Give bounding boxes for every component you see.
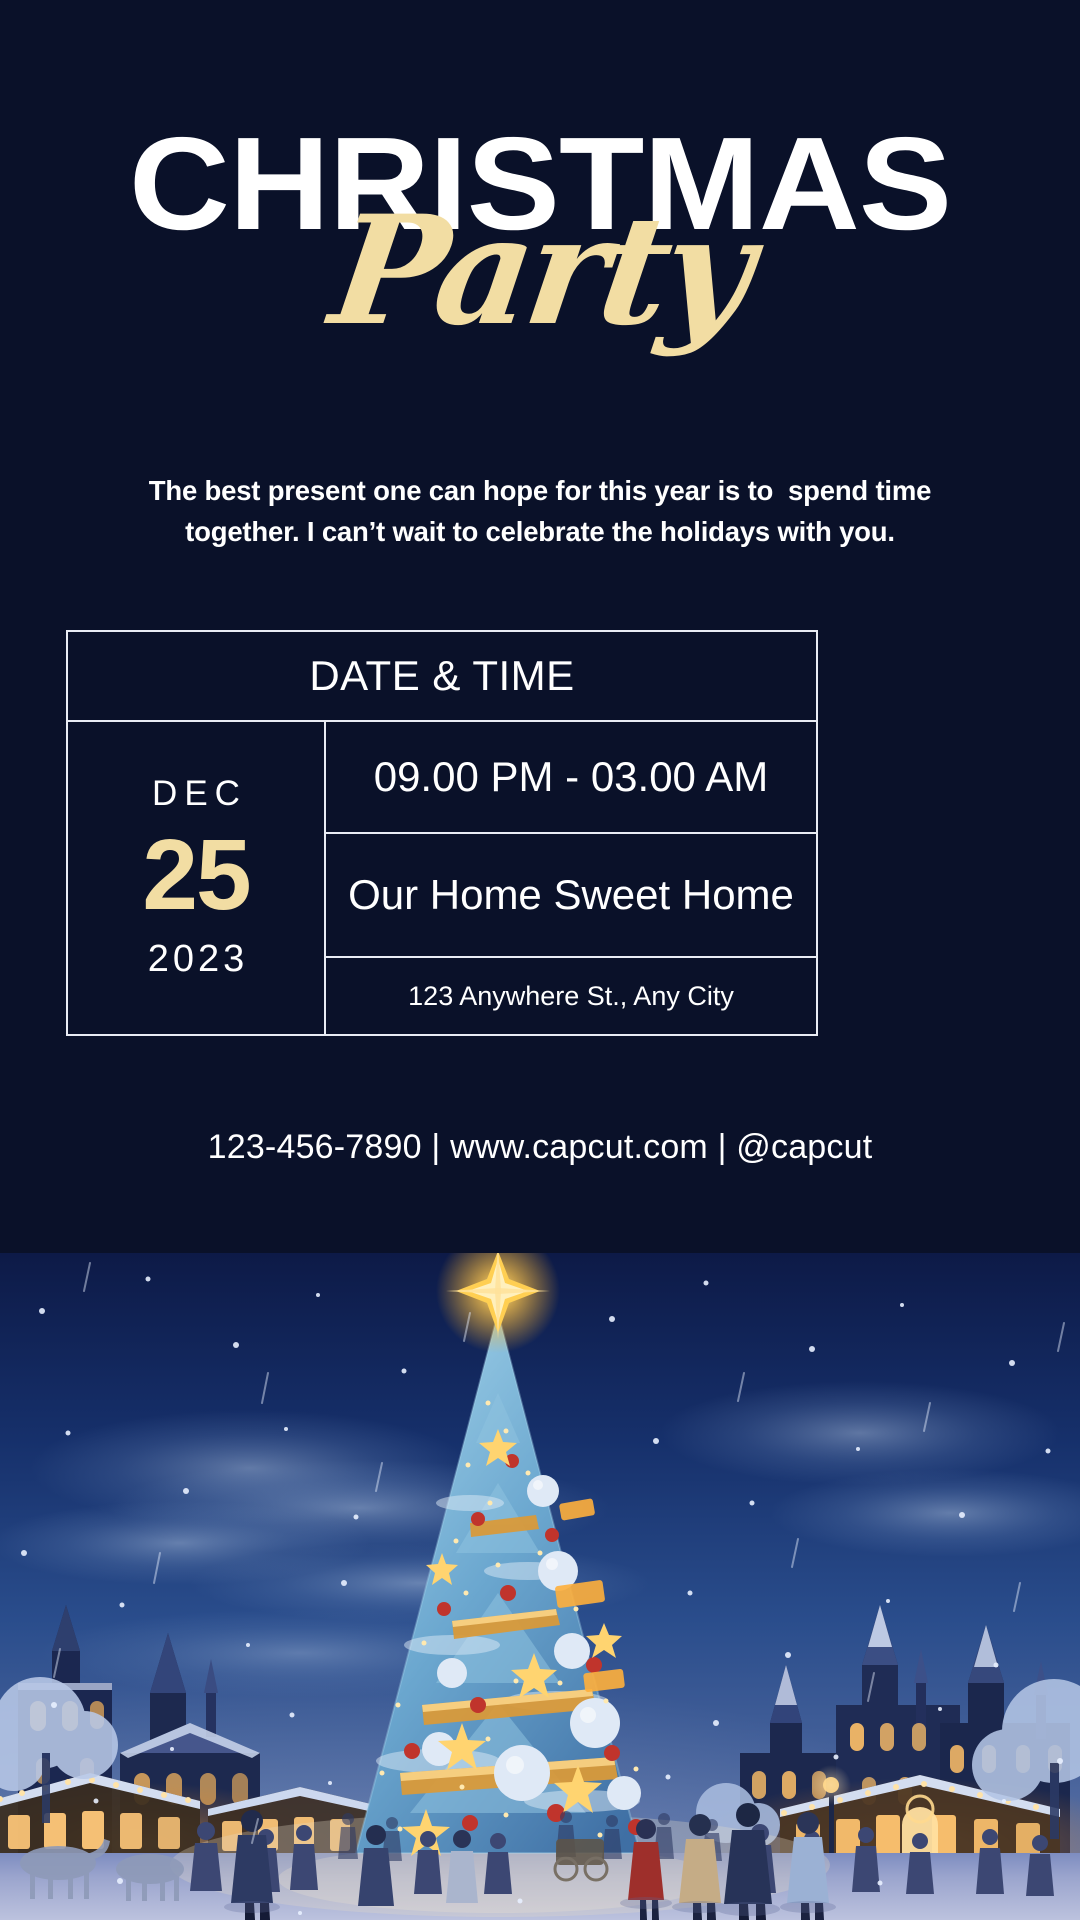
- event-details-table: DATE & TIME DEC 25 2023 09.00 PM - 03.00…: [66, 630, 818, 1036]
- date-year: 2023: [144, 938, 249, 980]
- intro-paragraph: The best present one can hope for this y…: [90, 470, 990, 552]
- date-month: DEC: [145, 772, 247, 816]
- poster-title-block: CHRISTMAS Party: [0, 118, 1080, 408]
- details-right-column: 09.00 PM - 03.00 AM Our Home Sweet Home …: [326, 722, 816, 1034]
- event-time: 09.00 PM - 03.00 AM: [326, 722, 816, 834]
- page-subtitle-script: Party: [0, 196, 1080, 346]
- date-day: 25: [142, 822, 249, 928]
- christmas-party-poster: CHRISTMAS Party The best present one can…: [0, 0, 1080, 1920]
- details-body: DEC 25 2023 09.00 PM - 03.00 AM Our Home…: [68, 722, 816, 1034]
- details-header: DATE & TIME: [68, 632, 816, 722]
- contact-line: 123-456-7890 | www.capcut.com | @capcut: [0, 1128, 1080, 1167]
- christmas-scene-photo: [0, 1253, 1080, 1920]
- date-cell: DEC 25 2023: [68, 722, 326, 1034]
- christmas-scene-illustration: [0, 1253, 1080, 1920]
- event-venue: Our Home Sweet Home: [326, 834, 816, 958]
- event-address: 123 Anywhere St., Any City: [326, 958, 816, 1034]
